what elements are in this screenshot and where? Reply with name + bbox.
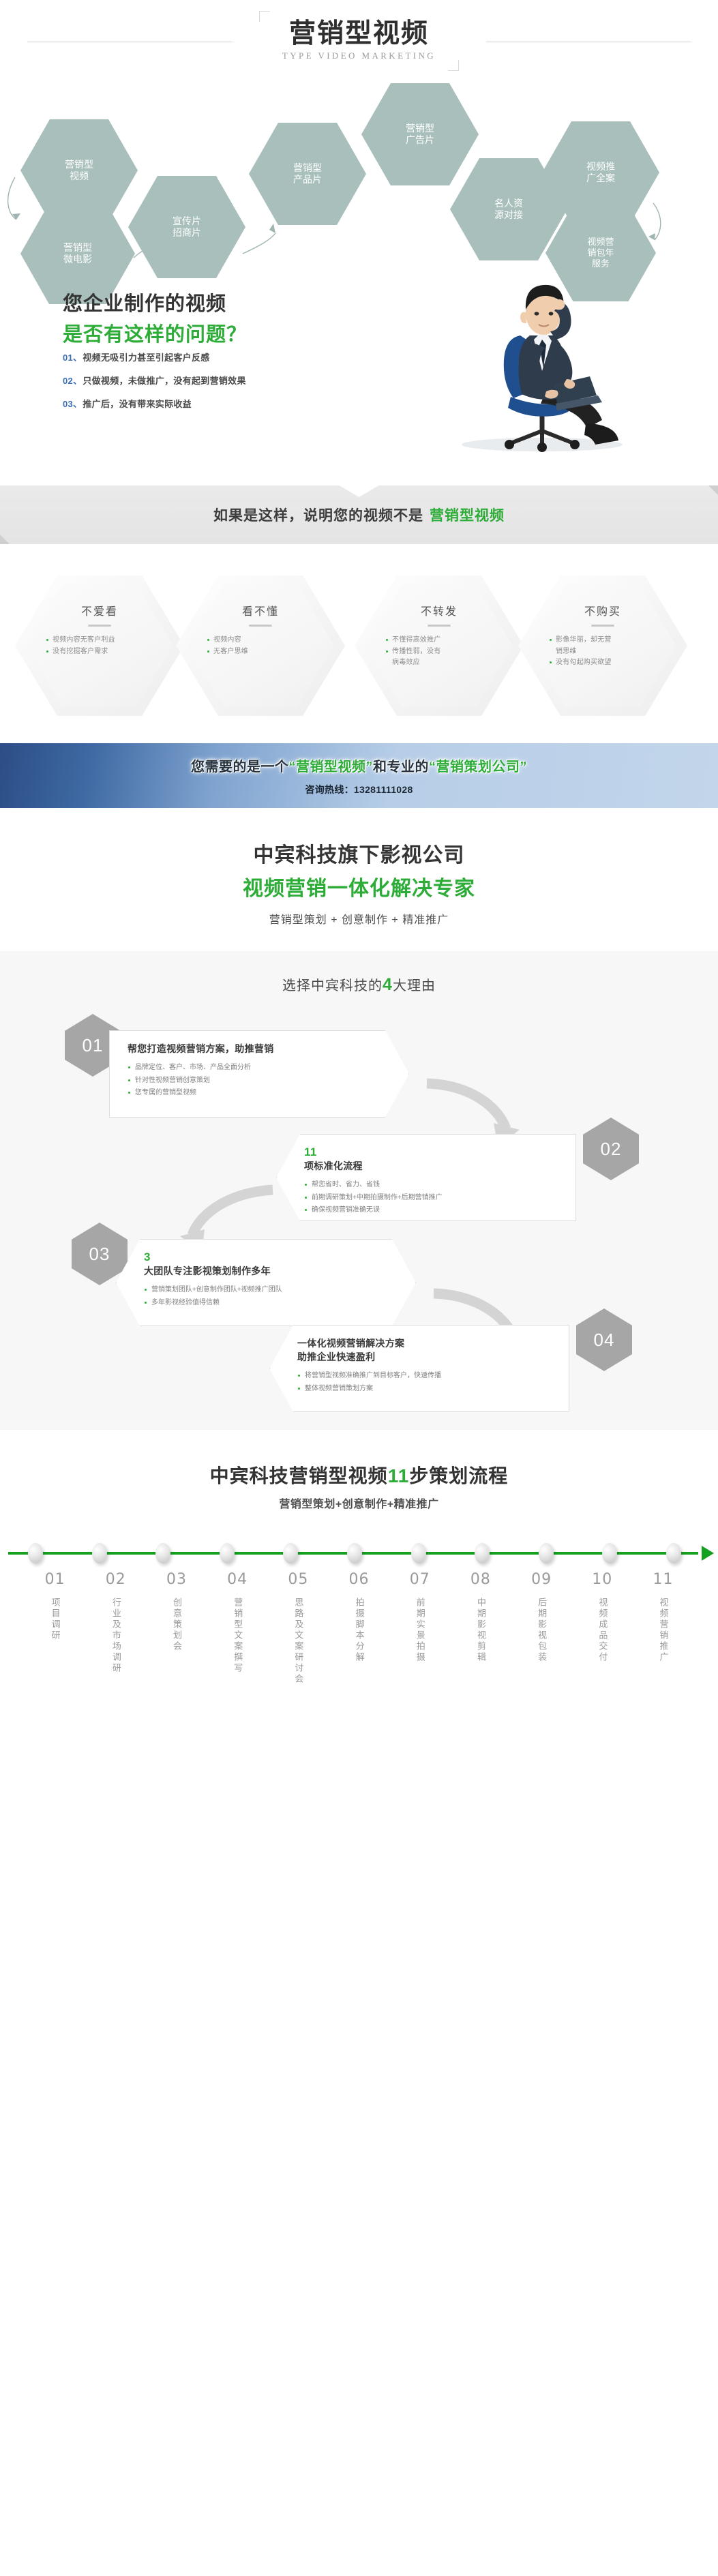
problem-card-bullet: 视频内容 [207,635,314,646]
company-name: 中宾科技旗下影视公司 [0,838,718,868]
timeline-step[interactable]: 11视频营销推广 [633,1571,693,1688]
reasons-heading: 选择中宾科技的4大理由 [0,974,718,995]
problem-card[interactable]: 不转发不懂得高效推广传播性弱，没有病毒效应 [355,575,524,716]
timeline-node[interactable] [92,1543,107,1563]
problem-card-bullet: 不懂得高效推广 [385,635,493,646]
timeline-step-label: 行业及市场调研 [109,1598,123,1674]
question-list-item: 03、推广后，没有带来实际收益 [63,397,246,410]
cta-headline: 您需要的是一个“营销型视频”和专业的“营销策划公司” [191,755,527,775]
problem-card-bullet: 没有挖掘客户需求 [46,646,153,658]
bullet-dot-icon [46,650,48,653]
reasons-heading-pre: 选择中宾科技的 [282,978,383,993]
problem-card-title: 不爱看 [81,602,118,618]
timeline-step-label: 后期影视包装 [535,1598,548,1663]
timeline-step[interactable]: 01项目调研 [25,1571,85,1688]
reason-badge: 03 [72,1223,128,1285]
company-slogan: 视频营销一体化解决专家 [0,871,718,901]
corner-bracket-top-left [259,11,270,22]
reason-badge: 02 [583,1118,639,1180]
header-title-box: 营销型视频 TYPE VIDEO MARKETING [259,11,459,71]
reasons-section: 选择中宾科技的4大理由 01帮您打造视频营销方案，助推营销品牌定位、客户、市场、… [0,951,718,1430]
question-item-text: 只做视频，未做推广，没有起到营销效果 [83,376,245,386]
bullet-dot-icon [207,650,209,653]
timeline-heading-post: 步策划流程 [409,1465,508,1486]
bullet-dot-icon [305,1197,307,1199]
service-hexagon-label: 营销型产品片 [285,162,330,185]
problem-card-bullets: 不懂得高效推广传播性弱，没有病毒效应 [385,635,493,669]
cta-part-2: 和专业的 [373,760,429,775]
service-hexagon-cloud: 营销型视频宣传片招商片营销型产品片营销型广告片名人资源对接视频推广全案营销型微电… [0,82,718,266]
question-section: 您企业制作的视频 是否有这样的问题？ 01、视频无吸引力甚至引起客户反感02、只… [0,266,718,470]
bullet-dot-icon [550,639,552,641]
company-intro-section: 中宾科技旗下影视公司 视频营销一体化解决专家 营销型策划 + 创意制作 + 精准… [0,808,718,951]
reason-badge: 04 [576,1308,632,1371]
cta-quote-2: “营销策划公司” [429,760,527,775]
bullet-dot-icon [305,1184,307,1186]
reason-card-title: 3大团队专注影视策划制作多年 [144,1250,402,1278]
question-heading: 您企业制作的视频 是否有这样的问题？ [63,288,247,347]
bullet-dot-icon [128,1066,130,1068]
question-item-text: 视频无吸引力甚至引起客户反感 [83,353,209,363]
timeline-step-label: 拍摄脚本分解 [352,1598,365,1663]
reason-card-bullet: 帮您省时、省力、省钱 [304,1179,562,1192]
timeline-steps: 01项目调研02行业及市场调研03创意策划会04营销型文案撰写05思路及文案研讨… [0,1571,718,1688]
timeline-heading: 中宾科技营销型视频11步策划流程 [0,1461,718,1488]
businessman-illustration [440,270,638,454]
timeline-step-number: 03 [146,1571,207,1588]
timeline-step-label: 项目调研 [48,1598,62,1641]
bullet-dot-icon [128,1092,130,1094]
timeline-step[interactable]: 02行业及市场调研 [85,1571,146,1688]
timeline-node[interactable] [539,1543,554,1563]
timeline-step-number: 06 [329,1571,389,1588]
timeline-node[interactable] [28,1543,43,1563]
cta-part-1: 您需要的是一个 [191,760,289,775]
header-rule-right [486,41,691,42]
problem-card-divider [249,625,272,627]
service-hexagon[interactable]: 营销型产品片 [249,123,366,225]
timeline-node[interactable] [602,1543,617,1563]
reason-card-title-number: 3 [144,1250,151,1263]
timeline-step-number: 02 [85,1571,146,1588]
landing-page: 营销型视频 TYPE VIDEO MARKETING 营销型视 [0,0,718,1716]
timeline-arrow-icon [702,1546,714,1561]
bullet-dot-icon [298,1388,300,1390]
reason-card[interactable]: 3大团队专注影视策划制作多年营销策划团队+创意制作团队+视频推广团队多年影视经验… [116,1239,416,1326]
conclusion-text: 如果是这样，说明您的视频不是营销型视频 [213,505,505,525]
service-hexagon-label: 营销型视频 [57,159,102,182]
timeline-step-label: 创意策划会 [170,1598,183,1652]
question-line-2: 是否有这样的问题？ [63,318,247,347]
timeline-step-number: 05 [268,1571,329,1588]
timeline-heading-pre: 中宾科技营销型视频 [210,1465,388,1486]
problem-card-bullet: 影像华丽，却无营 [549,635,657,646]
problem-card-bullet: 病毒效应 [385,657,493,669]
question-item-text: 推广后，没有带来实际收益 [83,399,192,409]
service-hexagon-label: 营销型广告片 [398,123,443,146]
reason-card-bullet: 整体视频营销策划方案 [297,1383,555,1396]
problem-card[interactable]: 看不懂视频内容无客户思维 [176,575,345,716]
timeline-step[interactable]: 04营销型文案撰写 [207,1571,268,1688]
cta-quote-1: “营销型视频” [289,760,374,775]
cta-hotline[interactable]: 咨询热线：13281111028 [305,783,413,796]
service-hexagon-label: 视频推广全案 [578,161,623,184]
problem-card-title: 不转发 [421,602,458,618]
bullet-dot-icon [550,661,552,663]
question-list: 01、视频无吸引力甚至引起客户反感02、只做视频，未做推广，没有起到营销效果03… [63,350,246,420]
problem-card-inner: 不购买影像华丽，却无营销思维没有勾起购买欲望 [529,584,676,707]
timeline-step[interactable]: 08中期影视剪辑 [450,1571,511,1688]
reason-card-bullet: 针对性视频营销创意策划 [128,1075,395,1088]
reason-card-title: 一体化视频营销解决方案助推企业快速盈利 [297,1336,555,1364]
conclusion-ribbon-wrap: 如果是这样，说明您的视频不是营销型视频 [0,470,718,559]
timeline-step[interactable]: 03创意策划会 [146,1571,207,1688]
question-item-number: 02、 [63,376,82,386]
page-title: 营销型视频 [282,20,436,48]
problem-card-bullet: 视频内容无客户利益 [46,635,153,646]
timeline-step-label: 思路及文案研讨会 [291,1598,305,1685]
timeline-step-label: 中期影视剪辑 [474,1598,488,1663]
question-list-item: 02、只做视频，未做推广，没有起到营销效果 [63,374,246,387]
problem-card-inner: 看不懂视频内容无客户思维 [187,584,334,707]
timeline-step-label: 视频成品交付 [595,1598,609,1663]
hotline-number[interactable]: 13281111028 [354,784,413,795]
timeline-step[interactable]: 06拍摄脚本分解 [329,1571,389,1688]
service-hexagon-label: 名人资源对接 [486,198,531,221]
bullet-dot-icon [305,1209,307,1211]
timeline-step-number: 07 [389,1571,450,1588]
reason-card-bullet: 营销策划团队+创意制作团队+视频推广团队 [144,1284,402,1297]
timeline-step-label: 视频营销推广 [656,1598,670,1663]
timeline-node[interactable] [411,1543,426,1563]
problem-card-bullets: 影像华丽，却无营销思维没有勾起购买欲望 [549,635,657,669]
timeline-step-number: 08 [450,1571,511,1588]
timeline-step-number: 01 [25,1571,85,1588]
problem-card-bullets: 视频内容无客户思维 [207,635,314,657]
timeline-step-label: 营销型文案撰写 [230,1598,244,1674]
reason-card-bullet: 多年影视经验值得信赖 [144,1297,402,1310]
problem-card[interactable]: 不爱看视频内容无客户利益没有挖掘客户需求 [15,575,184,716]
corner-bracket-bottom-right [448,60,459,71]
problem-card-bullet: 无客户思维 [207,646,314,658]
problem-card-inner: 不转发不懂得高效推广传播性弱，没有病毒效应 [365,584,513,707]
reason-card-bullet: 您专属的营销型视频 [128,1087,395,1100]
reason-card[interactable]: 11项标准化流程帮您省时、省力、省钱前期调研策划+中期拍摄制作+后期营销推广确保… [276,1134,576,1221]
reason-card[interactable]: 一体化视频营销解决方案助推企业快速盈利将营销型视频准确推广到目标客户，快速传播整… [269,1325,569,1412]
timeline-step-label: 前期实景拍摄 [413,1598,427,1663]
timeline-step-number: 04 [207,1571,268,1588]
timeline-node[interactable] [666,1543,681,1563]
timeline-section: 中宾科技营销型视频11步策划流程 营销型策划+创意制作+精准推广 01项目调研0… [0,1430,718,1716]
reasons-heading-number: 4 [383,975,393,994]
question-item-number: 03、 [63,399,82,409]
hotline-label: 咨询热线： [305,784,354,795]
reason-card-bullet: 将营销型视频准确推广到目标客户，快速传播 [297,1370,555,1383]
page-subtitle-en: TYPE VIDEO MARKETING [282,50,436,61]
timeline-step[interactable]: 09后期影视包装 [511,1571,572,1688]
bullet-dot-icon [145,1302,147,1304]
timeline-heading-number: 11 [388,1465,410,1486]
problem-card-bullet: 没有勾起购买欲望 [549,657,657,669]
timeline-step[interactable]: 05思路及文案研讨会 [268,1571,329,1688]
problem-card-title: 不购买 [584,602,621,618]
problem-card-bullet: 销思维 [549,646,657,658]
service-hexagon-label: 营销型微电影 [55,242,100,265]
timeline-subheading: 营销型策划+创意制作+精准推广 [0,1495,718,1511]
cta-banner[interactable]: 您需要的是一个“营销型视频”和专业的“营销策划公司” 咨询热线：13281111… [0,743,718,808]
page-header: 营销型视频 TYPE VIDEO MARKETING [0,0,718,82]
problem-card-inner: 不爱看视频内容无客户利益没有挖掘客户需求 [26,584,173,707]
bullet-dot-icon [386,650,388,653]
problem-card-title: 看不懂 [242,602,279,618]
bullet-dot-icon [207,639,209,641]
timeline-step[interactable]: 07前期实景拍摄 [389,1571,450,1688]
problem-card-bullet: 传播性弱，没有 [385,646,493,658]
service-hexagon-label: 视频营销包年服务 [579,237,622,269]
reason-card-title-number: 11 [304,1145,317,1158]
problem-card-divider [428,625,451,627]
timeline-step-number: 11 [633,1571,693,1588]
question-list-item: 01、视频无吸引力甚至引起客户反感 [63,350,246,363]
timeline-node[interactable] [283,1543,298,1563]
bullet-dot-icon [145,1289,147,1291]
timeline-rail [0,1540,718,1567]
reason-card[interactable]: 帮您打造视频营销方案，助推营销品牌定位、客户、市场、产品全面分析针对性视频营销创… [109,1030,409,1118]
bullet-dot-icon [46,639,48,641]
reason-card-title: 帮您打造视频营销方案，助推营销 [128,1042,395,1055]
reason-card-bullet: 前期调研策划+中期拍摄制作+后期营销推广 [304,1192,562,1205]
timeline-node[interactable] [155,1543,170,1563]
timeline-node[interactable] [220,1543,235,1563]
conclusion-highlight: 营销型视频 [430,508,505,524]
conclusion-prefix: 如果是这样，说明您的视频不是 [213,508,423,524]
header-rule-left [27,41,232,42]
reason-card-bullet: 品牌定位、客户、市场、产品全面分析 [128,1062,395,1075]
question-item-number: 01、 [63,353,82,363]
timeline-step[interactable]: 10视频成品交付 [572,1571,633,1688]
question-line-1: 您企业制作的视频 [63,288,247,316]
bullet-dot-icon [298,1375,300,1377]
timeline-node[interactable] [347,1543,362,1563]
conclusion-ribbon: 如果是这样，说明您的视频不是营销型视频 [0,485,718,544]
service-hexagon-label: 宣传片招商片 [164,215,209,239]
service-hexagon[interactable]: 宣传片招商片 [128,176,245,278]
problem-card-bullets: 视频内容无客户利益没有挖掘客户需求 [46,635,153,657]
reason-card-list: 01帮您打造视频营销方案，助推营销品牌定位、客户、市场、产品全面分析针对性视频营… [0,1014,718,1396]
problem-cards-section: 不爱看视频内容无客户利益没有挖掘客户需求看不懂视频内容无客户思维不转发不懂得高效… [0,559,718,743]
service-hexagon[interactable]: 营销型广告片 [361,83,479,185]
reason-card-title: 11项标准化流程 [304,1145,562,1173]
problem-card-divider [591,625,614,627]
timeline-node[interactable] [475,1543,490,1563]
reasons-heading-post: 大理由 [393,978,436,993]
company-services: 营销型策划 + 创意制作 + 精准推广 [0,910,718,927]
timeline-step-number: 10 [572,1571,633,1588]
problem-card-divider [88,625,111,627]
bullet-dot-icon [128,1079,130,1081]
reason-card-bullet: 确保视频营销准确无误 [304,1204,562,1217]
timeline-step-number: 09 [511,1571,572,1588]
bullet-dot-icon [386,639,388,641]
problem-card[interactable]: 不购买影像华丽，却无营销思维没有勾起购买欲望 [518,575,687,716]
